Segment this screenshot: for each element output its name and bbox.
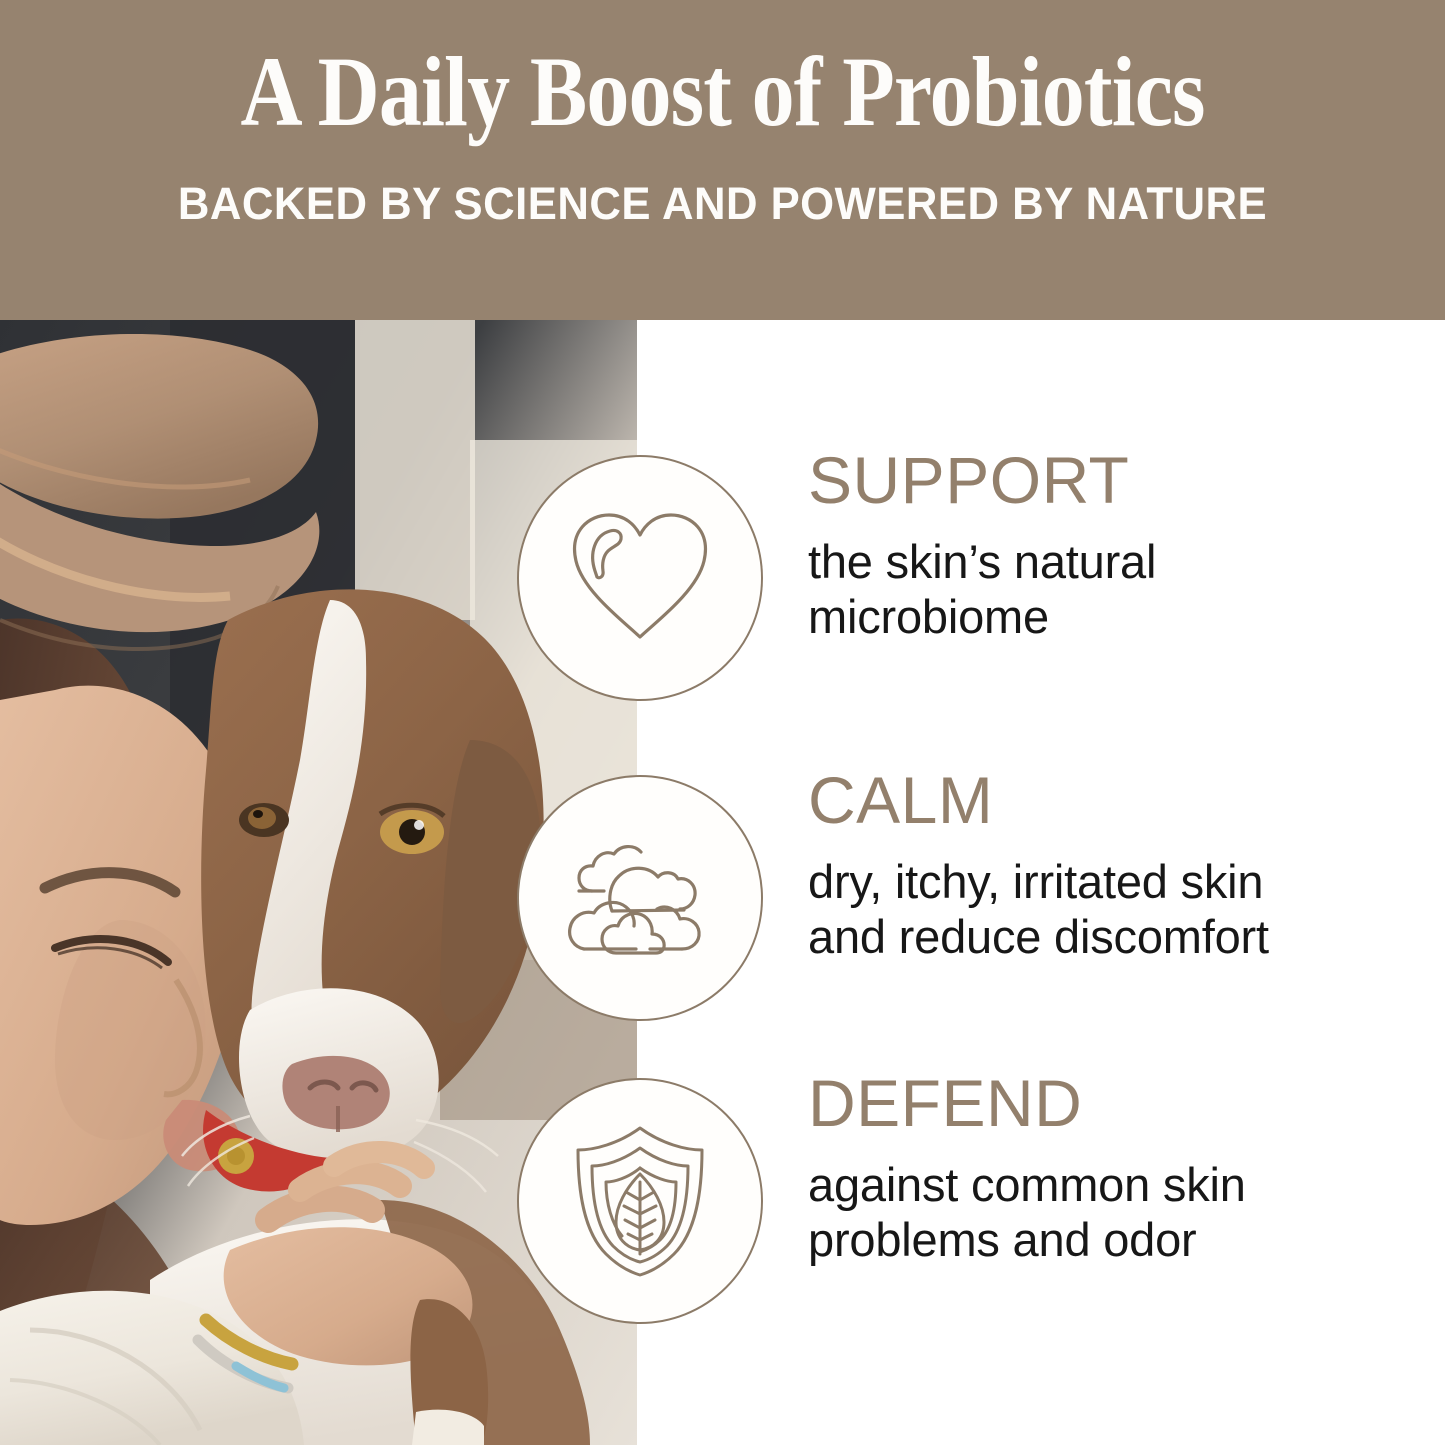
- benefit-body-line: problems and odor: [808, 1213, 1408, 1268]
- benefit-heading: SUPPORT: [808, 447, 1408, 513]
- benefit-item-calm: CALM dry, itchy, irritated skin and redu…: [0, 775, 1445, 1045]
- clouds-icon: [517, 775, 763, 1021]
- benefit-heading: DEFEND: [808, 1070, 1408, 1136]
- benefit-body-line: against common skin: [808, 1158, 1408, 1213]
- benefit-body-line: microbiome: [808, 590, 1408, 645]
- benefit-heading: CALM: [808, 767, 1408, 833]
- benefit-body: against common skin problems and odor: [808, 1158, 1408, 1267]
- benefit-body-line: the skin’s natural: [808, 535, 1408, 590]
- benefit-text-calm: CALM dry, itchy, irritated skin and redu…: [808, 767, 1408, 964]
- benefit-text-defend: DEFEND against common skin problems and …: [808, 1070, 1408, 1267]
- header-banner: A Daily Boost of Probiotics BACKED BY SC…: [0, 0, 1445, 320]
- benefit-item-support: SUPPORT the skin’s natural microbiome: [0, 455, 1445, 725]
- benefit-body: the skin’s natural microbiome: [808, 535, 1408, 644]
- heart-icon: [517, 455, 763, 701]
- product-benefits-infographic: A Daily Boost of Probiotics BACKED BY SC…: [0, 0, 1445, 1445]
- benefit-body: dry, itchy, irritated skin and reduce di…: [808, 855, 1408, 964]
- benefit-item-defend: DEFEND against common skin problems and …: [0, 1078, 1445, 1348]
- benefit-text-support: SUPPORT the skin’s natural microbiome: [808, 447, 1408, 644]
- benefit-body-line: and reduce discomfort: [808, 910, 1408, 965]
- benefits-list: SUPPORT the skin’s natural microbiome: [0, 320, 1445, 1445]
- page-title: A Daily Boost of Probiotics: [240, 42, 1204, 142]
- benefit-body-line: dry, itchy, irritated skin: [808, 855, 1408, 910]
- page-subtitle: BACKED BY SCIENCE AND POWERED BY NATURE: [178, 178, 1267, 230]
- shield-leaf-icon: [517, 1078, 763, 1324]
